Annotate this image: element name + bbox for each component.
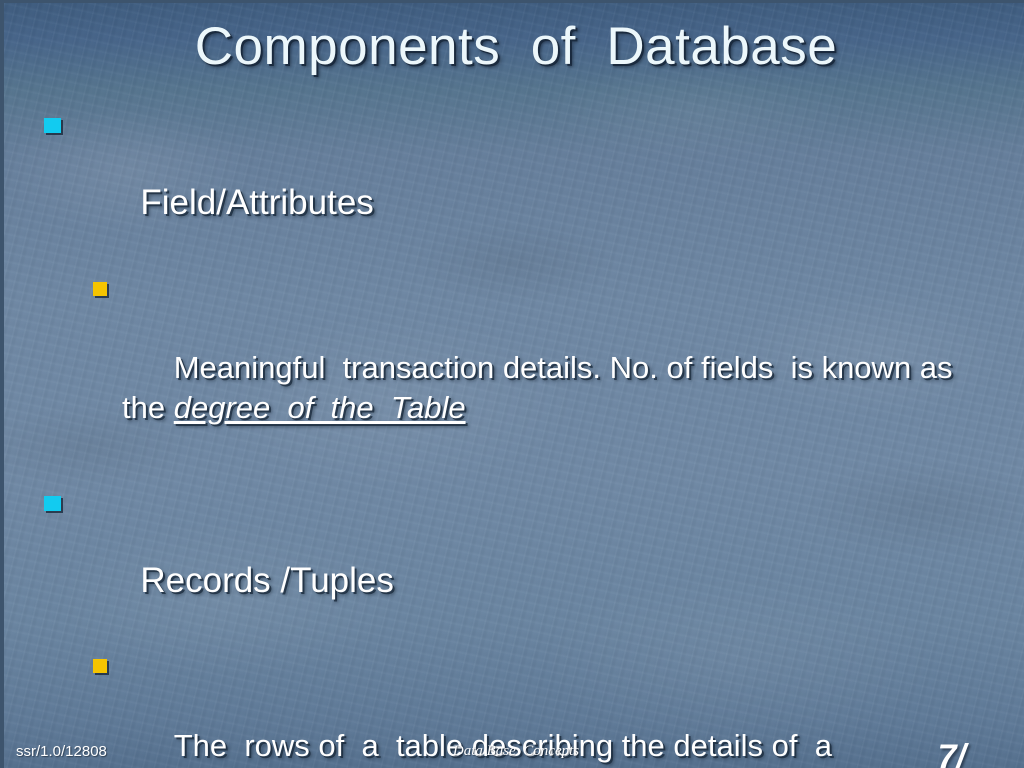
outline-item-level1: Records /Tuples xyxy=(4,481,1024,641)
outline-level2-emphasis: degree of the Table xyxy=(174,390,466,425)
slide-body-outline: Field/Attributes Meaningful transaction … xyxy=(4,103,1024,768)
outline-item-level1: Field/Attributes xyxy=(4,103,1024,263)
footer-subject-title: Data Base Concepts xyxy=(4,743,1024,760)
slide-title: Components of Database xyxy=(4,19,1024,75)
outline-level1-label: Field/Attributes xyxy=(140,183,373,222)
footer-page-number: 7/ xyxy=(938,738,966,768)
presentation-slide: Components of Database Field/Attributes … xyxy=(0,0,1024,768)
outline-item-level2: Meaningful transaction details. No. of f… xyxy=(4,269,1024,467)
gold-square-bullet-icon xyxy=(93,659,107,673)
gold-square-bullet-icon xyxy=(93,282,107,296)
cyan-square-bullet-icon xyxy=(44,118,61,133)
cyan-square-bullet-icon xyxy=(44,496,61,511)
outline-level1-label: Records /Tuples xyxy=(140,561,394,600)
